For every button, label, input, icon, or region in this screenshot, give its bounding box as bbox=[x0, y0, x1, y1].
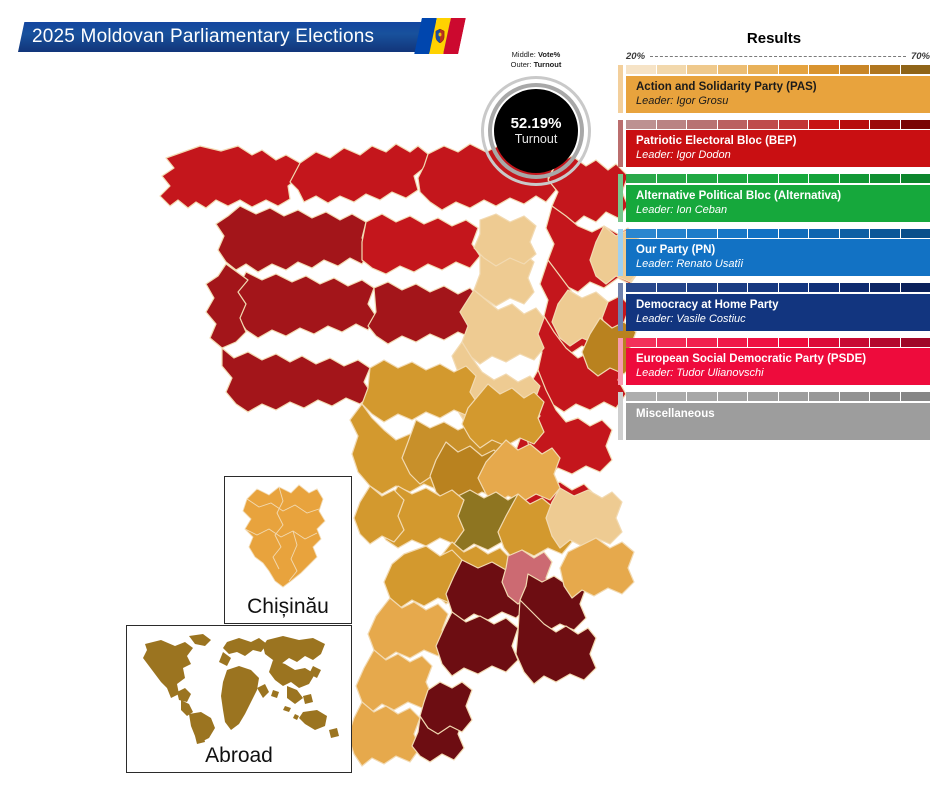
gradient-swatch bbox=[657, 65, 688, 74]
results-scale-row: 20% 70% bbox=[618, 51, 930, 62]
gradient-swatch bbox=[840, 283, 871, 292]
turnout-label: Turnout bbox=[515, 132, 558, 147]
party-name: Our Party (PN) bbox=[636, 243, 930, 257]
party-name: Action and Solidarity Party (PAS) bbox=[636, 80, 930, 94]
donut-legend-outer: Outer: Turnout bbox=[470, 60, 602, 70]
party-name: Patriotic Electoral Bloc (BEP) bbox=[636, 134, 930, 148]
gradient-swatch bbox=[657, 229, 688, 238]
gradient-swatch bbox=[687, 120, 718, 129]
region-east-light-1 bbox=[552, 290, 608, 346]
gradient-swatch bbox=[626, 283, 657, 292]
party-name: Alternative Political Bloc (Alternativa) bbox=[636, 189, 930, 203]
party-leader: Leader: Ion Ceban bbox=[636, 203, 930, 217]
gradient-swatch bbox=[870, 120, 901, 129]
party-leader: Leader: Tudor Ulianovschi bbox=[636, 366, 930, 380]
gradient-swatch bbox=[748, 65, 779, 74]
party-row[interactable]: Democracy at Home PartyLeader: Vasile Co… bbox=[618, 283, 930, 331]
scale-dashed-line bbox=[650, 56, 906, 57]
gradient-swatch bbox=[626, 392, 657, 401]
party-leader: Leader: Igor Grosu bbox=[636, 94, 930, 108]
world-inset-map bbox=[127, 626, 349, 744]
gradient-swatch bbox=[748, 283, 779, 292]
gradient-swatch bbox=[809, 338, 840, 347]
party-name: Miscellaneous bbox=[636, 407, 930, 421]
region-cahul bbox=[348, 702, 420, 766]
party-list: Action and Solidarity Party (PAS)Leader:… bbox=[618, 65, 930, 440]
region-rezina bbox=[474, 214, 536, 266]
party-leader: Leader: Renato Usatîi bbox=[636, 257, 930, 271]
party-leader-empty bbox=[636, 421, 930, 435]
region-basarabeasca bbox=[502, 550, 552, 604]
turnout-donut-widget: Middle: Vote% Outer: Turnout 52.19% Turn… bbox=[470, 50, 602, 186]
gradient-swatch bbox=[718, 283, 749, 292]
party-gradient-scale bbox=[626, 65, 930, 74]
gradient-swatch bbox=[626, 229, 657, 238]
gradient-swatch bbox=[779, 120, 810, 129]
region-taraclia bbox=[412, 710, 464, 762]
region-ungheni bbox=[350, 404, 476, 494]
results-title: Results bbox=[618, 30, 930, 47]
gradient-swatch bbox=[901, 120, 931, 129]
party-row[interactable]: Patriotic Electoral Bloc (BEP)Leader: Ig… bbox=[618, 120, 930, 168]
donut-legend-caption: Middle: Vote% Outer: Turnout bbox=[470, 50, 602, 70]
party-edge-marker bbox=[618, 283, 623, 331]
region-straseni bbox=[430, 442, 506, 502]
gradient-swatch bbox=[748, 338, 779, 347]
gradient-swatch bbox=[687, 338, 718, 347]
gradient-swatch bbox=[718, 229, 749, 238]
party-name: Democracy at Home Party bbox=[636, 298, 930, 312]
gradient-swatch bbox=[657, 392, 688, 401]
region-floresti bbox=[236, 272, 376, 338]
region-balti bbox=[474, 250, 534, 306]
party-gradient-scale bbox=[626, 174, 930, 183]
party-edge-marker bbox=[618, 120, 623, 168]
gradient-swatch bbox=[718, 392, 749, 401]
gradient-swatch bbox=[779, 229, 810, 238]
gradient-swatch bbox=[840, 174, 871, 183]
gradient-swatch bbox=[687, 283, 718, 292]
party-body: Miscellaneous bbox=[626, 403, 930, 440]
page-title-banner: 2025 Moldovan Parliamentary Elections bbox=[18, 22, 446, 52]
region-hincesti bbox=[376, 486, 464, 548]
gradient-swatch bbox=[748, 174, 779, 183]
gradient-swatch bbox=[901, 338, 931, 347]
party-body: Action and Solidarity Party (PAS)Leader:… bbox=[626, 76, 930, 113]
party-body: Our Party (PN)Leader: Renato Usatîi bbox=[626, 239, 930, 276]
region-soroca bbox=[362, 214, 480, 274]
party-name: European Social Democratic Party (PSDE) bbox=[636, 352, 930, 366]
gradient-swatch bbox=[657, 174, 688, 183]
party-row[interactable]: Action and Solidarity Party (PAS)Leader:… bbox=[618, 65, 930, 113]
gradient-swatch bbox=[748, 120, 779, 129]
party-row[interactable]: Alternative Political Bloc (Alternativa)… bbox=[618, 174, 930, 222]
party-gradient-scale bbox=[626, 338, 930, 347]
coat-of-arms-icon bbox=[435, 29, 446, 44]
party-row[interactable]: Miscellaneous bbox=[618, 392, 930, 440]
region-ocnita bbox=[290, 144, 428, 203]
region-grigoriopol bbox=[536, 316, 626, 412]
gradient-swatch bbox=[718, 65, 749, 74]
gradient-swatch bbox=[687, 229, 718, 238]
gradient-swatch bbox=[687, 392, 718, 401]
party-gradient-scale bbox=[626, 283, 930, 292]
region-orhei bbox=[462, 384, 544, 448]
party-row[interactable]: Our Party (PN)Leader: Renato Usatîi bbox=[618, 229, 930, 277]
region-falesti bbox=[362, 360, 478, 422]
gradient-swatch bbox=[870, 338, 901, 347]
region-anenii-noi bbox=[498, 494, 572, 558]
region-east-mid bbox=[560, 538, 634, 598]
gradient-swatch bbox=[657, 120, 688, 129]
chisinau-inset-map bbox=[225, 477, 350, 597]
scale-max-label: 70% bbox=[911, 51, 930, 62]
gradient-swatch bbox=[840, 65, 871, 74]
gradient-swatch bbox=[840, 338, 871, 347]
region-leova bbox=[368, 598, 448, 660]
moldova-flag-icon bbox=[414, 18, 466, 54]
region-east-pale-1 bbox=[546, 488, 622, 548]
gradient-swatch bbox=[840, 392, 871, 401]
gradient-swatch bbox=[626, 120, 657, 129]
gradient-swatch bbox=[748, 392, 779, 401]
party-edge-marker bbox=[618, 229, 623, 277]
region-drochia bbox=[368, 282, 482, 344]
region-calarasi bbox=[402, 420, 512, 484]
results-panel: Results 20% 70% Action and Solidarity Pa… bbox=[618, 30, 930, 447]
donut-core: 52.19% Turnout bbox=[494, 89, 578, 173]
gradient-swatch bbox=[870, 174, 901, 183]
party-edge-marker bbox=[618, 338, 623, 386]
gradient-swatch bbox=[870, 392, 901, 401]
gradient-swatch bbox=[809, 392, 840, 401]
party-body: Patriotic Electoral Bloc (BEP)Leader: Ig… bbox=[626, 130, 930, 167]
region-cimislia bbox=[384, 546, 462, 608]
region-gagauzia-ceadir bbox=[436, 612, 518, 676]
gradient-swatch bbox=[809, 120, 840, 129]
gradient-swatch bbox=[809, 283, 840, 292]
party-body: Democracy at Home PartyLeader: Vasile Co… bbox=[626, 294, 930, 331]
party-edge-marker bbox=[618, 392, 623, 440]
party-gradient-scale bbox=[626, 392, 930, 401]
gradient-swatch bbox=[718, 120, 749, 129]
gradient-swatch bbox=[779, 392, 810, 401]
gradient-swatch bbox=[901, 174, 931, 183]
region-gagauzia-comrat bbox=[446, 560, 528, 622]
party-body: Alternative Political Bloc (Alternativa)… bbox=[626, 185, 930, 222]
gradient-swatch bbox=[901, 392, 931, 401]
party-row[interactable]: European Social Democratic Party (PSDE)L… bbox=[618, 338, 930, 386]
region-briceni bbox=[160, 146, 300, 208]
inset-abroad-label: Abroad bbox=[127, 744, 351, 768]
region-glodeni bbox=[222, 348, 372, 412]
region-singerei bbox=[460, 290, 544, 364]
gradient-swatch bbox=[779, 283, 810, 292]
turnout-donut: 52.19% Turnout bbox=[481, 76, 591, 186]
region-stefan-voda bbox=[520, 574, 586, 632]
page-title: 2025 Moldovan Parliamentary Elections bbox=[32, 22, 374, 52]
gradient-swatch bbox=[718, 174, 749, 183]
region-chisinau-core bbox=[444, 490, 526, 552]
gradient-swatch bbox=[718, 338, 749, 347]
gradient-swatch bbox=[626, 174, 657, 183]
region-nisporeni bbox=[354, 486, 404, 544]
region-telenesti-n bbox=[452, 342, 540, 432]
gradient-swatch bbox=[840, 120, 871, 129]
gradient-swatch bbox=[809, 229, 840, 238]
gradient-swatch bbox=[870, 283, 901, 292]
region-cantemir bbox=[356, 650, 432, 712]
region-causeni bbox=[516, 600, 596, 684]
gradient-swatch bbox=[809, 65, 840, 74]
region-slobozia bbox=[512, 428, 594, 540]
gradient-swatch bbox=[657, 338, 688, 347]
region-tiraspol bbox=[524, 370, 612, 476]
gradient-swatch bbox=[779, 338, 810, 347]
gradient-swatch bbox=[779, 174, 810, 183]
party-gradient-scale bbox=[626, 229, 930, 238]
gradient-swatch bbox=[870, 229, 901, 238]
gradient-swatch bbox=[870, 65, 901, 74]
gradient-swatch bbox=[748, 229, 779, 238]
party-gradient-scale bbox=[626, 120, 930, 129]
party-edge-marker bbox=[618, 174, 623, 222]
party-edge-marker bbox=[618, 65, 623, 113]
region-donduseni bbox=[216, 206, 370, 272]
gradient-swatch bbox=[779, 65, 810, 74]
scale-min-label: 20% bbox=[626, 51, 645, 62]
gradient-swatch bbox=[840, 229, 871, 238]
gradient-swatch bbox=[687, 174, 718, 183]
gradient-swatch bbox=[901, 283, 931, 292]
region-criuleni bbox=[478, 440, 560, 504]
region-ialoveni bbox=[430, 542, 510, 604]
gradient-swatch bbox=[657, 283, 688, 292]
party-body: European Social Democratic Party (PSDE)L… bbox=[626, 348, 930, 385]
donut-legend-middle: Middle: Vote% bbox=[470, 50, 602, 60]
gradient-swatch bbox=[901, 229, 931, 238]
gradient-swatch bbox=[687, 65, 718, 74]
gradient-swatch bbox=[809, 174, 840, 183]
party-leader: Leader: Vasile Costiuc bbox=[636, 312, 930, 326]
inset-chisinau-label: Chișinău bbox=[225, 595, 351, 619]
inset-abroad: Abroad bbox=[126, 625, 352, 773]
inset-chisinau: Chișinău bbox=[224, 476, 352, 624]
gradient-swatch bbox=[626, 65, 657, 74]
region-gagauzia-vulcanesti bbox=[420, 682, 472, 734]
party-leader: Leader: Igor Dodon bbox=[636, 148, 930, 162]
turnout-percent: 52.19% bbox=[511, 115, 562, 132]
gradient-swatch bbox=[626, 338, 657, 347]
gradient-swatch bbox=[901, 65, 931, 74]
region-riscani bbox=[206, 264, 248, 348]
